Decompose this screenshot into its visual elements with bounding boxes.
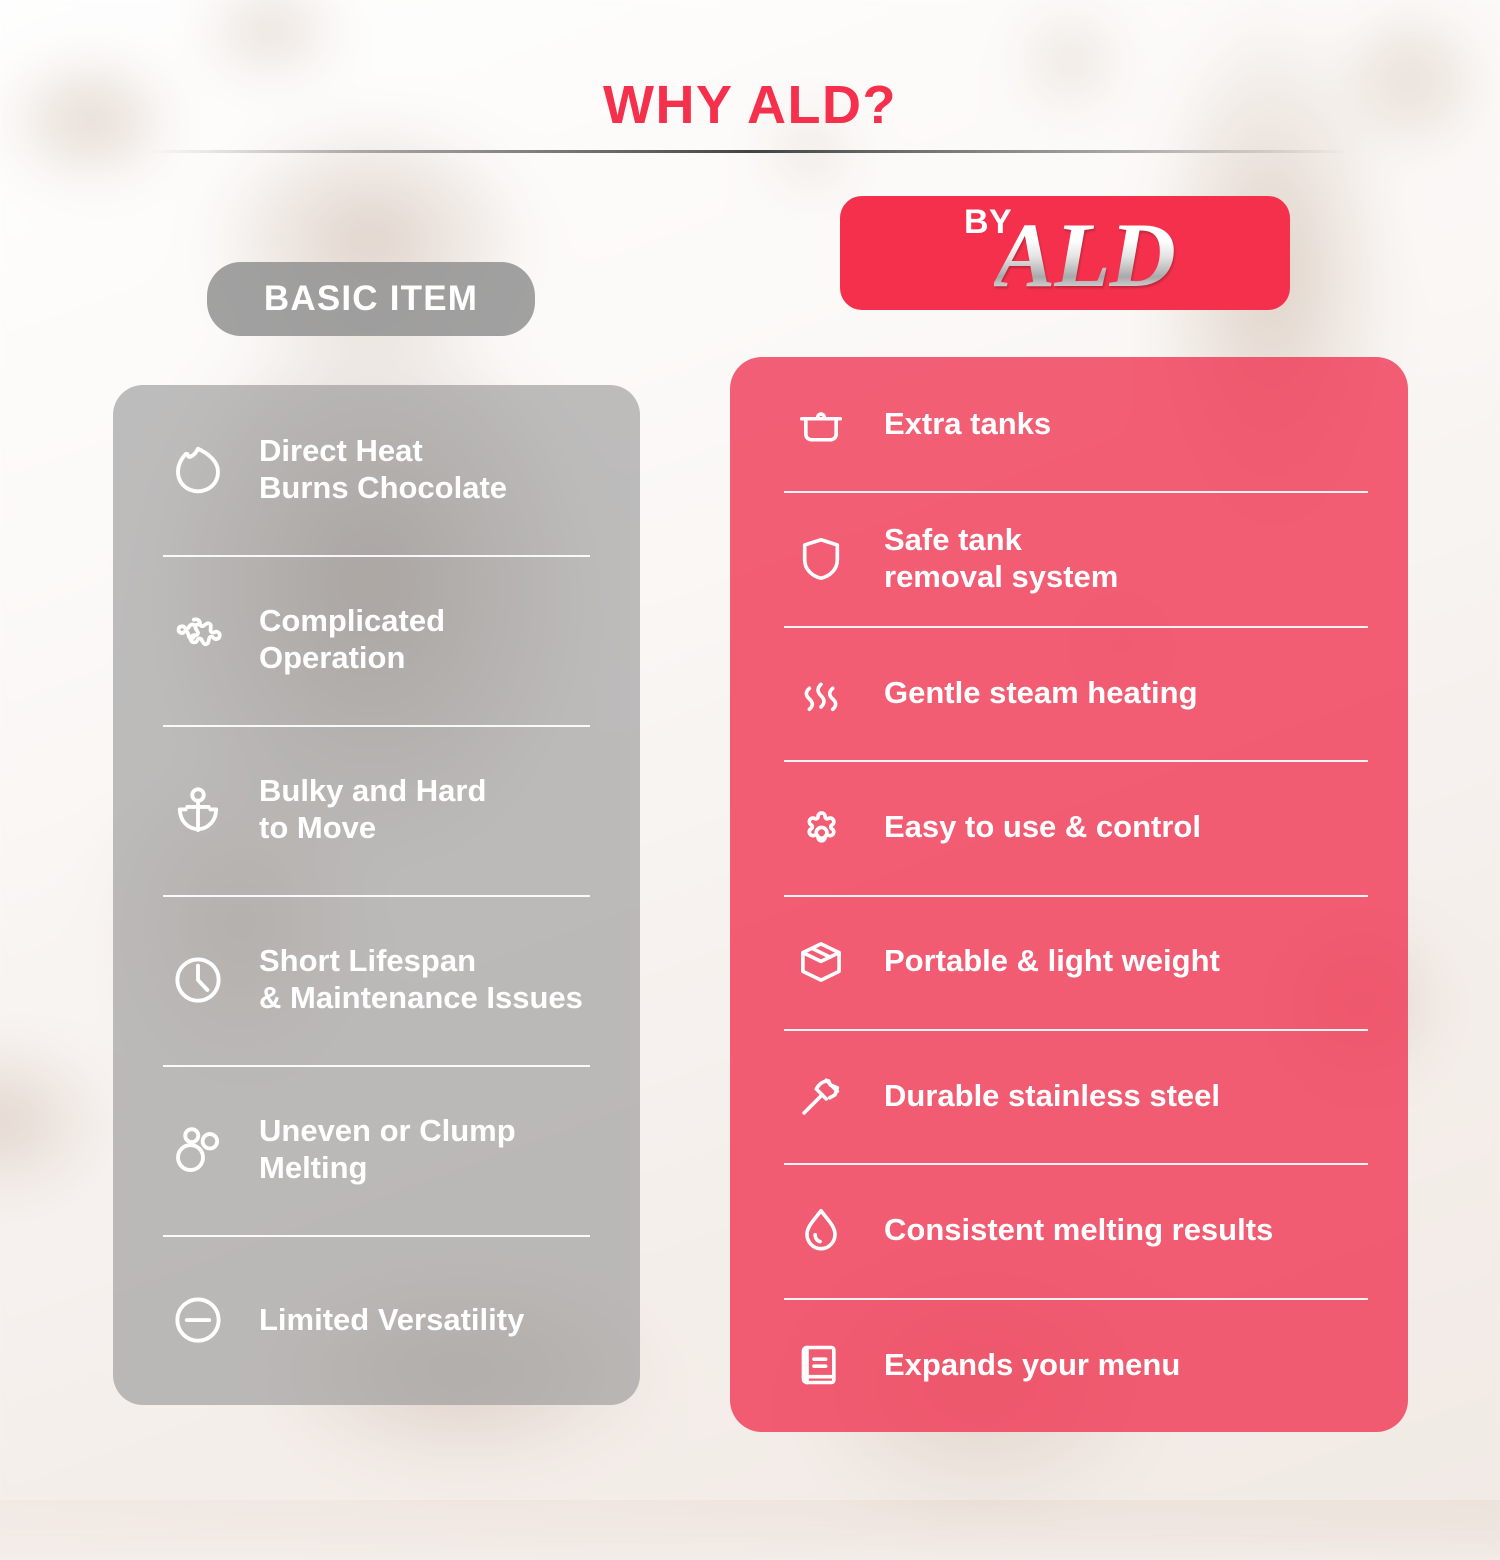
list-item-label: Consistent melting results (884, 1212, 1273, 1249)
list-item: ComplicatedOperation (113, 555, 640, 725)
list-item: Limited Versatility (113, 1235, 640, 1405)
list-item-label: Gentle steam heating (884, 675, 1198, 712)
clock-icon (161, 943, 235, 1017)
list-item-label: Easy to use & control (884, 809, 1201, 846)
list-item-label: ComplicatedOperation (259, 603, 445, 676)
book-icon (786, 1330, 856, 1400)
list-item: Easy to use & control (730, 760, 1408, 894)
list-item-label: Safe tankremoval system (884, 522, 1118, 595)
gear-icon (786, 792, 856, 862)
list-item: Durable stainless steel (730, 1029, 1408, 1163)
list-item-label: Uneven or ClumpMelting (259, 1113, 516, 1186)
anchor-icon (161, 773, 235, 847)
panel-basic-item: Direct HeatBurns ChocolateComplicatedOpe… (113, 385, 640, 1405)
ald-logo-wordmark: ALD (994, 209, 1175, 301)
list-item-label: Portable & light weight (884, 943, 1220, 980)
pot-icon (786, 389, 856, 459)
by-ald-feature-list: Extra tanksSafe tankremoval systemGentle… (730, 357, 1408, 1432)
panel-by-ald: Extra tanksSafe tankremoval systemGentle… (730, 357, 1408, 1432)
list-item-label: Expands your menu (884, 1347, 1180, 1384)
list-item: Extra tanks (730, 357, 1408, 491)
droplet-icon (786, 1195, 856, 1265)
list-item: Short Lifespan& Maintenance Issues (113, 895, 640, 1065)
list-item: Uneven or ClumpMelting (113, 1065, 640, 1235)
list-item: Safe tankremoval system (730, 491, 1408, 625)
list-item-label: Direct HeatBurns Chocolate (259, 433, 507, 506)
badge-basic-item: BASIC ITEM (207, 262, 535, 336)
title-divider (150, 150, 1350, 153)
list-item: Consistent melting results (730, 1163, 1408, 1297)
ald-logo-lockup: BY ALD (950, 201, 1180, 305)
bubbles-icon (161, 1113, 235, 1187)
list-item: Bulky and Hardto Move (113, 725, 640, 895)
list-item-label: Bulky and Hardto Move (259, 773, 486, 846)
list-item: Portable & light weight (730, 895, 1408, 1029)
list-item-label: Limited Versatility (259, 1302, 524, 1339)
steam-icon (786, 658, 856, 728)
list-item: Expands your menu (730, 1298, 1408, 1432)
minus-circle-icon (161, 1283, 235, 1357)
list-item: Gentle steam heating (730, 626, 1408, 760)
basic-item-list: Direct HeatBurns ChocolateComplicatedOpe… (113, 385, 640, 1405)
box-icon (786, 927, 856, 997)
list-item-label: Short Lifespan& Maintenance Issues (259, 943, 583, 1016)
badge-by-ald: BY ALD (840, 196, 1290, 310)
list-item: Direct HeatBurns Chocolate (113, 385, 640, 555)
shield-icon (786, 524, 856, 594)
list-item-label: Durable stainless steel (884, 1078, 1220, 1115)
hammer-icon (786, 1061, 856, 1131)
flame-icon (161, 433, 235, 507)
list-item-label: Extra tanks (884, 406, 1051, 443)
puzzle-icon (161, 603, 235, 677)
page-title: WHY ALD? (0, 74, 1500, 136)
badge-basic-item-label: BASIC ITEM (264, 279, 478, 319)
